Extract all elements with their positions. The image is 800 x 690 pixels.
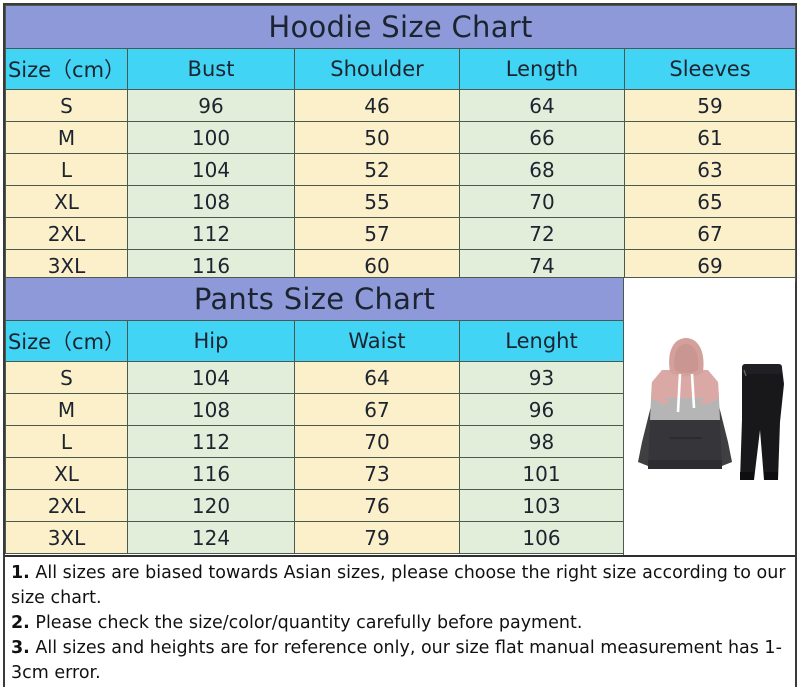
hoodie-title-row: Hoodie Size Chart [6, 6, 796, 49]
pants-size-chart: Pants Size ChartSize（cm）HipWaistLenghtS1… [5, 277, 623, 555]
hoodie-size-chart: Hoodie Size ChartSize（cm）BustShoulderLen… [5, 5, 795, 282]
product-photo-hoodie-and-pants [626, 312, 794, 522]
note-number-1: 1. [11, 563, 30, 583]
measurement-cell: 55 [295, 186, 460, 218]
pants-waistband [742, 364, 782, 374]
measurement-cell: 64 [460, 90, 625, 122]
size-label-cell: XL [6, 186, 128, 218]
note-number-2: 2. [11, 613, 30, 633]
measurement-cell: 67 [625, 218, 796, 250]
size-label-cell: S [6, 90, 128, 122]
measurement-cell: 70 [295, 426, 460, 458]
measurement-cell: 120 [128, 490, 295, 522]
pants-header-row: Size（cm）HipWaistLenght [6, 321, 624, 362]
pants-title: Pants Size Chart [6, 278, 624, 321]
pants-column-header: Hip [128, 321, 295, 362]
note-text-3: All sizes and heights are for reference … [11, 638, 782, 683]
pants-right-cuff [764, 472, 778, 480]
measurement-cell: 66 [460, 122, 625, 154]
hoodie-column-header: Bust [128, 49, 295, 90]
table-row: 2XL112577267 [6, 218, 796, 250]
size-label-cell: L [6, 154, 128, 186]
note-line-1: 1. All sizes are biased towards Asian si… [11, 561, 789, 611]
measurement-cell: 68 [460, 154, 625, 186]
measurement-cell: 96 [128, 90, 295, 122]
measurement-cell: 70 [460, 186, 625, 218]
note-text-1: All sizes are biased towards Asian sizes… [11, 563, 786, 608]
table-row: 3XL12479106 [6, 522, 624, 554]
table-row: XL11673101 [6, 458, 624, 490]
table-row: L1127098 [6, 426, 624, 458]
measurement-cell: 106 [460, 522, 624, 554]
measurement-cell: 59 [625, 90, 796, 122]
measurement-cell: 76 [295, 490, 460, 522]
size-label-cell: L [6, 426, 128, 458]
size-label-cell: 2XL [6, 490, 128, 522]
size-label-cell: XL [6, 458, 128, 490]
note-line-3: 3. All sizes and heights are for referen… [11, 636, 789, 686]
hoodie-hem-band [648, 460, 722, 469]
pants-table: Pants Size ChartSize（cm）HipWaistLenghtS1… [5, 277, 624, 554]
measurement-cell: 116 [128, 458, 295, 490]
measurement-cell: 93 [460, 362, 624, 394]
size-chart-page: Hoodie Size ChartSize（cm）BustShoulderLen… [0, 0, 800, 690]
pants-title-row: Pants Size Chart [6, 278, 624, 321]
table-row: 2XL12076103 [6, 490, 624, 522]
measurement-cell: 67 [295, 394, 460, 426]
measurement-cell: 104 [128, 154, 295, 186]
table-row: M100506661 [6, 122, 796, 154]
pants-left-cuff [740, 472, 754, 480]
measurement-cell: 65 [625, 186, 796, 218]
size-label-cell: M [6, 394, 128, 426]
measurement-cell: 96 [460, 394, 624, 426]
measurement-cell: 103 [460, 490, 624, 522]
measurement-cell: 63 [625, 154, 796, 186]
measurement-cell: 124 [128, 522, 295, 554]
hoodie-column-header: Size（cm） [6, 49, 128, 90]
hoodie-table: Hoodie Size ChartSize（cm）BustShoulderLen… [5, 5, 796, 282]
tables-block: Hoodie Size ChartSize（cm）BustShoulderLen… [5, 5, 795, 555]
note-line-2: 2. Please check the size/color/quantity … [11, 611, 789, 636]
hoodie-column-header: Sleeves [625, 49, 796, 90]
measurement-cell: 52 [295, 154, 460, 186]
size-label-cell: M [6, 122, 128, 154]
size-notes: 1. All sizes are biased towards Asian si… [5, 555, 795, 689]
size-label-cell: 2XL [6, 218, 128, 250]
measurement-cell: 101 [460, 458, 624, 490]
measurement-cell: 64 [295, 362, 460, 394]
measurement-cell: 108 [128, 394, 295, 426]
measurement-cell: 112 [128, 218, 295, 250]
hoodie-column-header: Length [460, 49, 625, 90]
measurement-cell: 100 [128, 122, 295, 154]
table-row: XL108557065 [6, 186, 796, 218]
product-image-cell [623, 277, 795, 555]
note-number-3: 3. [11, 638, 30, 658]
measurement-cell: 57 [295, 218, 460, 250]
pants-column-header: Size（cm） [6, 321, 128, 362]
chart-frame: Hoodie Size ChartSize（cm）BustShoulderLen… [3, 3, 797, 687]
size-label-cell: 3XL [6, 522, 128, 554]
measurement-cell: 72 [460, 218, 625, 250]
table-row: S1046493 [6, 362, 624, 394]
hoodie-header-row: Size（cm）BustShoulderLengthSleeves [6, 49, 796, 90]
measurement-cell: 79 [295, 522, 460, 554]
measurement-cell: 61 [625, 122, 796, 154]
note-text-2: Please check the size/color/quantity car… [30, 613, 583, 633]
pants-column-header: Lenght [460, 321, 624, 362]
pants-body [740, 368, 784, 480]
table-row: L104526863 [6, 154, 796, 186]
pants-and-image-row: Pants Size ChartSize（cm）HipWaistLenghtS1… [5, 277, 795, 555]
measurement-cell: 98 [460, 426, 624, 458]
hoodie-title: Hoodie Size Chart [6, 6, 796, 49]
measurement-cell: 108 [128, 186, 295, 218]
pants-column-header: Waist [295, 321, 460, 362]
table-row: S96466459 [6, 90, 796, 122]
measurement-cell: 73 [295, 458, 460, 490]
measurement-cell: 50 [295, 122, 460, 154]
hoodie-column-header: Shoulder [295, 49, 460, 90]
table-row: M1086796 [6, 394, 624, 426]
size-label-cell: S [6, 362, 128, 394]
measurement-cell: 112 [128, 426, 295, 458]
measurement-cell: 104 [128, 362, 295, 394]
measurement-cell: 46 [295, 90, 460, 122]
